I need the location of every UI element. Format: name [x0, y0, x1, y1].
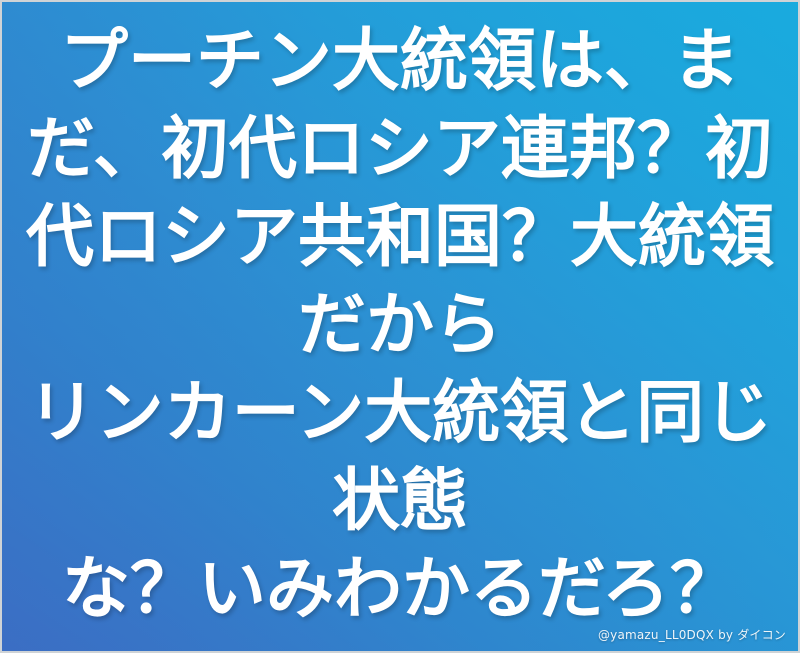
- message-line: だから: [2, 282, 798, 370]
- watermark-credit: @yamazu_LL0DQX by ダイコン: [598, 626, 786, 643]
- message-line: 状態: [2, 458, 798, 546]
- message-line: な？いみわかるだろ？: [2, 546, 798, 634]
- message-line: 代ロシア共和国？大統領: [2, 194, 798, 282]
- message-line: だ、初代ロシア連邦？初: [2, 106, 798, 194]
- message-line: プーチン大統領は、ま: [2, 18, 798, 106]
- message-text-block: プーチン大統領は、ま だ、初代ロシア連邦？初 代ロシア共和国？大統領 だから リ…: [2, 2, 798, 651]
- text-card: プーチン大統領は、ま だ、初代ロシア連邦？初 代ロシア共和国？大統領 だから リ…: [0, 0, 800, 653]
- message-line: リンカーン大統領と同じ: [2, 370, 798, 458]
